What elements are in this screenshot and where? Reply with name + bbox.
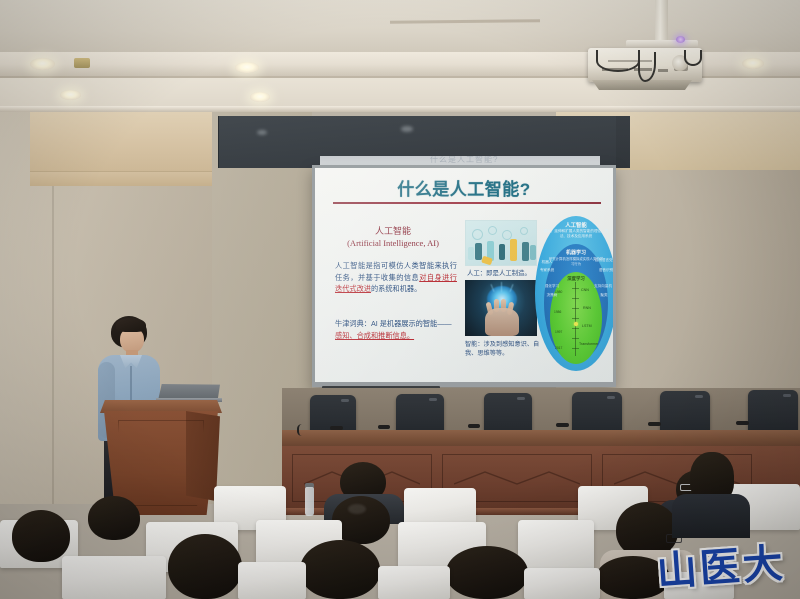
- para2-highlight: 感知、合成和推断信息。: [335, 331, 414, 340]
- venn-middle-side-right: 支持向量机: [591, 284, 613, 289]
- audience-seat-cover: [524, 568, 600, 599]
- slide-paragraph-2: 牛津词典：AI 是机器展示的智能——感知、合成和推断信息。: [335, 318, 457, 341]
- university-watermark: 山医大: [646, 531, 796, 597]
- venn-inner-label: 深度学习: [550, 276, 602, 282]
- audience-head: [88, 496, 140, 540]
- status-led-icon: [676, 36, 685, 43]
- audience-head: [446, 546, 528, 599]
- ai-ml-dl-venn-diagram: 人工智能 模拟、延伸和扩展人类的智能的理论、方法、技术及应用系统 机器人 专家系…: [535, 216, 613, 371]
- podium-front-inset: [118, 420, 204, 506]
- microphone: [297, 424, 309, 436]
- downlight: [250, 92, 270, 102]
- downlight: [235, 62, 259, 73]
- microphone: [556, 423, 569, 427]
- venn-year-label: 1980: [555, 290, 562, 294]
- projector-mount-plate: [626, 40, 698, 48]
- ai-people-illustration: [465, 220, 537, 266]
- venn-timeline-axis: [575, 282, 576, 356]
- downlight: [30, 58, 55, 70]
- para2-part-a: 牛津词典：AI 是机器展示的智能——: [335, 319, 452, 328]
- slide-title: 什么是人工智能?: [315, 175, 613, 200]
- venn-network-label: CNN: [581, 288, 589, 292]
- audience-seat-cover: [62, 556, 166, 599]
- downlight: [742, 58, 764, 69]
- microphone: [378, 425, 390, 429]
- slide-paragraph-1: 人工智能是指可模仿人类智能来执行任务，并基于收集的信息对自身进行迭代式改进的系统…: [335, 260, 457, 295]
- audience-seat-cover: [238, 562, 306, 599]
- venn-middle-side-left: 强化学习: [542, 284, 562, 289]
- venn-year-label: 1986: [554, 310, 561, 314]
- venn-middle-label: 机器学习: [544, 249, 608, 256]
- venn-year-label: 1997: [555, 330, 562, 334]
- venn-network-label: Transformer: [579, 342, 598, 346]
- venn-outer-sublabel: 模拟、延伸和扩展人类的智能的理论、方法、技术及应用系统: [541, 229, 611, 239]
- venn-outer-side-right2: 语音识别: [595, 268, 613, 273]
- stage-back-wall: [282, 388, 800, 432]
- venn-network-label: RNN: [583, 306, 591, 310]
- downlight: [60, 90, 81, 100]
- ceiling-sprinkler-icon: [74, 58, 90, 68]
- slide-title-rule: [333, 202, 601, 204]
- wood-wall-panel-lower: [30, 172, 218, 186]
- slide-caption-top: 人工：即是人工制造。: [467, 268, 531, 277]
- audience-head: [12, 510, 70, 562]
- venn-outer-label: 人工智能: [535, 221, 613, 229]
- microphone: [736, 421, 749, 425]
- venn-year-label: 2017: [555, 346, 562, 350]
- microphone: [468, 424, 480, 428]
- microphone: [648, 422, 661, 426]
- slide-heading: 人工智能: [333, 224, 453, 237]
- venn-network-label: LSTM: [582, 324, 592, 328]
- venn-middle-sublabel: 研究计算机怎样模拟或实现人类的学习行为: [548, 257, 604, 267]
- screen-valance-edge: [616, 116, 630, 168]
- microphone: [330, 426, 343, 430]
- audience-seat-cover: [518, 520, 594, 570]
- projector-cable: [684, 50, 702, 66]
- audience-seat-cover: [378, 566, 450, 599]
- projector-cable: [596, 50, 640, 72]
- water-bottle: [305, 487, 314, 516]
- venn-outer-side-left2: 专家系统: [536, 268, 558, 273]
- hand-holding-brain-photo: [465, 280, 537, 336]
- audience-head: [300, 540, 380, 599]
- wood-wall-panel: [30, 112, 218, 172]
- projection-screen: 什么是人工智能? 人工智能 (Artificial Intelligence, …: [312, 165, 616, 387]
- projector-underside: [592, 80, 692, 90]
- lecture-hall-photo: 什么是人工智能? 什么是人工智能? 人工智能 (Artificial Intel…: [0, 0, 800, 599]
- speaker-fringe: [116, 318, 146, 332]
- conference-table-top: [282, 430, 800, 446]
- projector-mount-pole: [655, 0, 668, 44]
- audience-head: [168, 534, 242, 599]
- overflow-title-text: 什么是人工智能?: [430, 156, 498, 165]
- slide-subheading: (Artificial Intelligence, AI): [323, 238, 463, 248]
- para1-part-b: 的系统和机器。: [371, 284, 421, 293]
- venn-middle-side-right2: 聚类: [595, 293, 613, 298]
- audience-shoulders: [672, 494, 750, 538]
